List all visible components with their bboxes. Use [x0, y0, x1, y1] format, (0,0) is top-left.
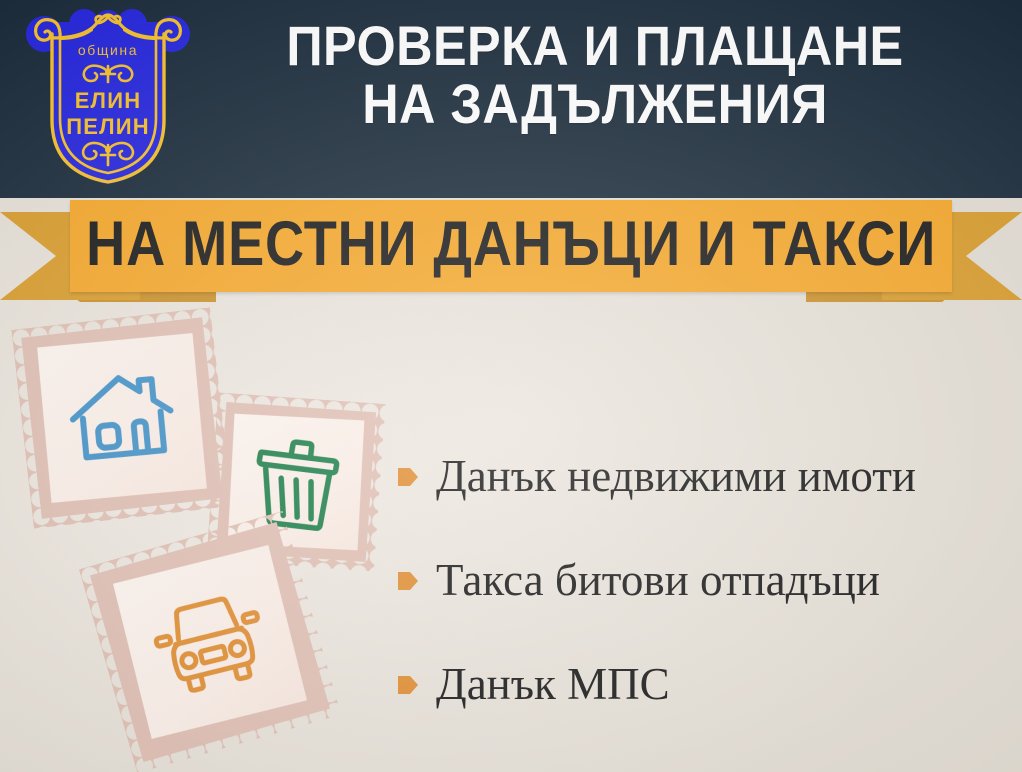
header-bar: община ЕЛИН ПЕЛИН — [0, 0, 1022, 198]
crest-name-line1: ЕЛИН — [75, 88, 142, 113]
car-icon — [144, 582, 276, 702]
list-item-label: Данък недвижими имоти — [436, 454, 916, 499]
page-title-line-2: НА ЗАДЪЛЖЕНИЯ — [218, 75, 972, 133]
page-title-line-1: ПРОВЕРКА И ПЛАЩАНЕ — [286, 14, 903, 77]
coat-of-arms-shield-icon: община ЕЛИН ПЕЛИН — [22, 8, 194, 190]
stamp-paper — [113, 545, 307, 739]
pennant-bullet-icon — [398, 674, 418, 696]
stamp-card-house — [11, 307, 232, 528]
list-item-label: Данък МПС — [436, 662, 670, 707]
list-item-label: Такса битови отпадъци — [436, 558, 880, 603]
ribbon-label: НА МЕСТНИ ДАНЪЦИ И ТАКСИ — [86, 213, 936, 276]
ribbon-banner: НА МЕСТНИ ДАНЪЦИ И ТАКСИ — [0, 196, 1022, 308]
pennant-bullet-icon — [398, 466, 418, 488]
crest-label-top: община — [78, 42, 138, 58]
page-title: ПРОВЕРКА И ПЛАЩАНЕ НА ЗАДЪЛЖЕНИЯ — [218, 17, 972, 132]
list-item[interactable]: Такса битови отпадъци — [398, 528, 1008, 632]
pennant-bullet-icon — [398, 570, 418, 592]
ribbon-body: НА МЕСТНИ ДАНЪЦИ И ТАКСИ — [70, 200, 952, 292]
crest-name-line2: ПЕЛИН — [66, 114, 150, 139]
tax-type-list: Данък недвижими имоти Такса битови отпад… — [398, 424, 1008, 736]
poster-canvas: община ЕЛИН ПЕЛИН — [0, 0, 1022, 772]
list-item[interactable]: Данък недвижими имоти — [398, 424, 1008, 528]
stamp-paper — [37, 333, 207, 503]
house-icon — [63, 363, 182, 473]
list-item[interactable]: Данък МПС — [398, 632, 1008, 736]
